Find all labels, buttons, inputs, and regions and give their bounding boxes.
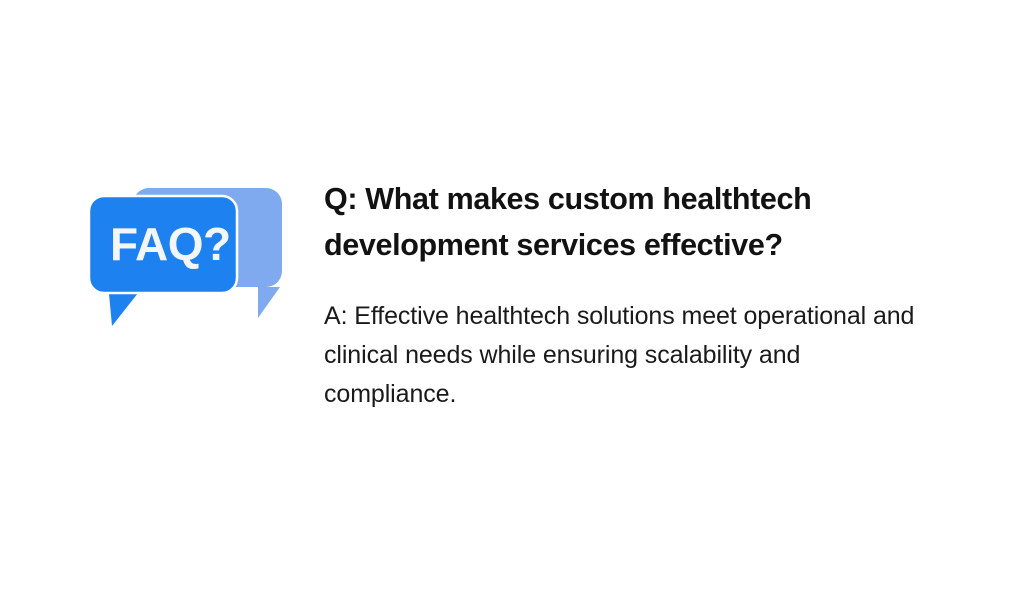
faq-question: Q: What makes custom healthtech developm… (324, 176, 869, 268)
faq-card: FAQ? Q: What makes custom healthtech dev… (0, 0, 1024, 600)
faq-answer: A: Effective healthtech solutions meet o… (324, 268, 939, 414)
faq-icon-label: FAQ? (110, 218, 231, 270)
faq-text-block: Q: What makes custom healthtech developm… (324, 176, 954, 414)
faq-speech-bubbles-icon: FAQ? (80, 165, 295, 340)
